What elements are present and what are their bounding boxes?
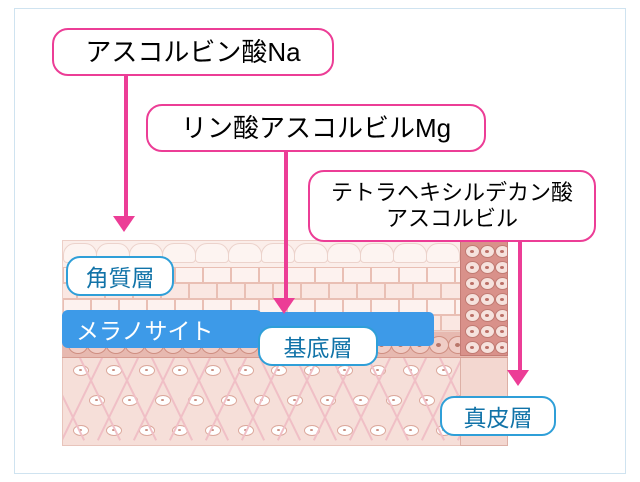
callout-ascorbyl-phosphate-mg: リン酸アスコルビルMg (146, 104, 486, 152)
label-dermis-layer: 真皮層 (440, 396, 556, 436)
callout-tetrahexyldecyl-ascorbate: テトラヘキシルデカン酸 アスコルビル (308, 170, 596, 242)
dermis-cell (370, 425, 386, 436)
side-wall-cell (480, 325, 495, 338)
label-melanocyte: メラノサイト (62, 310, 262, 348)
side-wall-cell (465, 325, 480, 338)
side-wall-cell (495, 293, 508, 306)
dermis-cell (155, 395, 171, 406)
corneum-scale (228, 243, 262, 263)
epidermis-cell (343, 267, 371, 283)
epidermis-cell (329, 283, 357, 299)
side-wall-cell (495, 341, 508, 354)
diagram-canvas: アスコルビン酸Na リン酸アスコルビルMg テトラヘキシルデカン酸 アスコルビル… (0, 0, 640, 482)
side-wall-cell (495, 277, 508, 290)
corneum-scale (195, 243, 229, 263)
epidermis-cell (245, 283, 273, 299)
arrow-to-dermis-layer-shaft (518, 240, 522, 374)
epidermis-cell (427, 267, 455, 283)
corneum-scale (261, 243, 295, 263)
epidermis-cell (371, 267, 399, 283)
epidermis-cell (413, 283, 441, 299)
side-wall-cell (465, 293, 480, 306)
side-wall-cell (480, 277, 495, 290)
side-wall-cell (465, 341, 480, 354)
epidermis-cell (315, 267, 343, 283)
side-wall-cell (495, 309, 508, 322)
side-wall-cell (495, 245, 508, 258)
side-wall-cell (465, 245, 480, 258)
side-wall-cell (495, 261, 508, 274)
side-wall-cell (495, 325, 508, 338)
epidermis-cell (385, 283, 413, 299)
callout-ascorbic-acid-na: アスコルビン酸Na (52, 28, 334, 76)
dermis-cell (172, 365, 188, 376)
arrow-to-dermis-layer-head (507, 370, 529, 386)
epidermis-cell (287, 267, 315, 283)
dermis-cell (139, 365, 155, 376)
arrow-to-basal-layer-head (273, 298, 295, 314)
epidermis-cell (189, 283, 217, 299)
epidermis-cell (231, 267, 259, 283)
epidermis-cell (259, 267, 287, 283)
side-wall-cell (480, 341, 495, 354)
side-wall-cell (465, 261, 480, 274)
side-wall-cell (480, 293, 495, 306)
corneum-scale (393, 243, 427, 263)
corneum-scale (327, 243, 361, 263)
epidermis-cell (399, 267, 427, 283)
arrow-to-basal-layer-shaft (284, 150, 288, 302)
corneum-scale (426, 243, 460, 263)
label-basal-layer: 基底層 (258, 326, 378, 366)
epidermis-cell (175, 267, 203, 283)
corneum-scale (360, 243, 394, 263)
side-wall-cell (465, 309, 480, 322)
epidermis-cell (217, 283, 245, 299)
side-wall-cell (480, 261, 495, 274)
epidermis-side-wall (460, 240, 508, 356)
epidermis-cell (203, 267, 231, 283)
side-wall-cell (480, 245, 495, 258)
side-wall-cell (465, 277, 480, 290)
arrow-to-horny-layer-head (113, 216, 135, 232)
label-horny-layer: 角質層 (66, 256, 174, 296)
corneum-scale (294, 243, 328, 263)
dermis-cell (205, 365, 221, 376)
epidermis-cell (357, 283, 385, 299)
side-wall-cell (480, 309, 495, 322)
epidermis-cell (301, 283, 329, 299)
arrow-to-horny-layer-shaft (124, 74, 128, 220)
